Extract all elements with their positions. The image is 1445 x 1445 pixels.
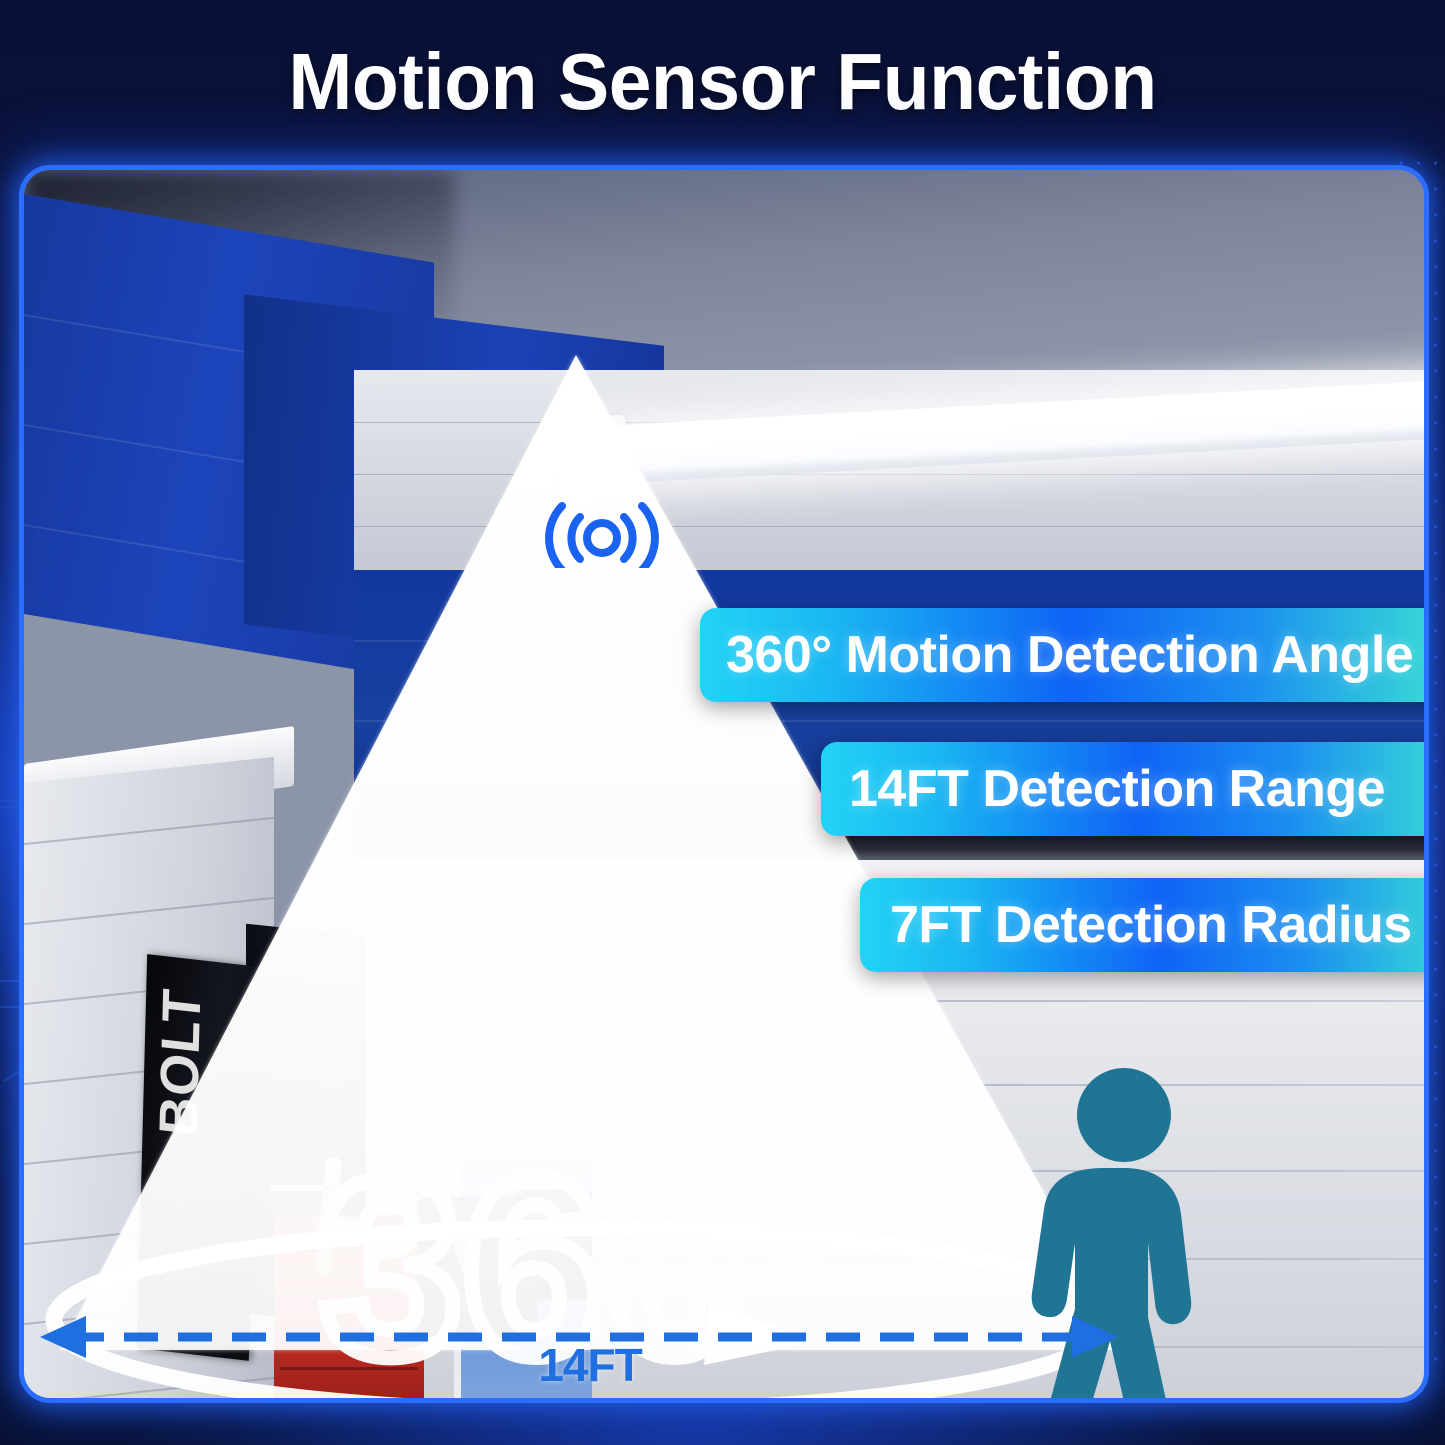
garage-scene: BOLT [24, 170, 1424, 1398]
badge-detection-radius[interactable]: 7FT Detection Radius [860, 878, 1424, 972]
motion-sensor-waves-icon [532, 502, 672, 568]
walking-person-pictogram [1024, 1063, 1244, 1398]
page-title: Motion Sensor Function [29, 42, 1416, 122]
badge-detection-range-label: 14FT Detection Range [849, 759, 1385, 819]
badge-detection-range[interactable]: 14FT Detection Range [821, 742, 1424, 836]
dimension-label-14ft: 14FT [500, 1338, 680, 1392]
badge-detection-angle-label: 360° Motion Detection Angle [726, 625, 1413, 685]
infographic-root: Motion Sensor Function [0, 0, 1445, 1445]
badge-detection-radius-label: 7FT Detection Radius [890, 895, 1412, 955]
badge-detection-angle[interactable]: 360° Motion Detection Angle [700, 608, 1424, 702]
product-photo-frame: BOLT [24, 170, 1424, 1398]
